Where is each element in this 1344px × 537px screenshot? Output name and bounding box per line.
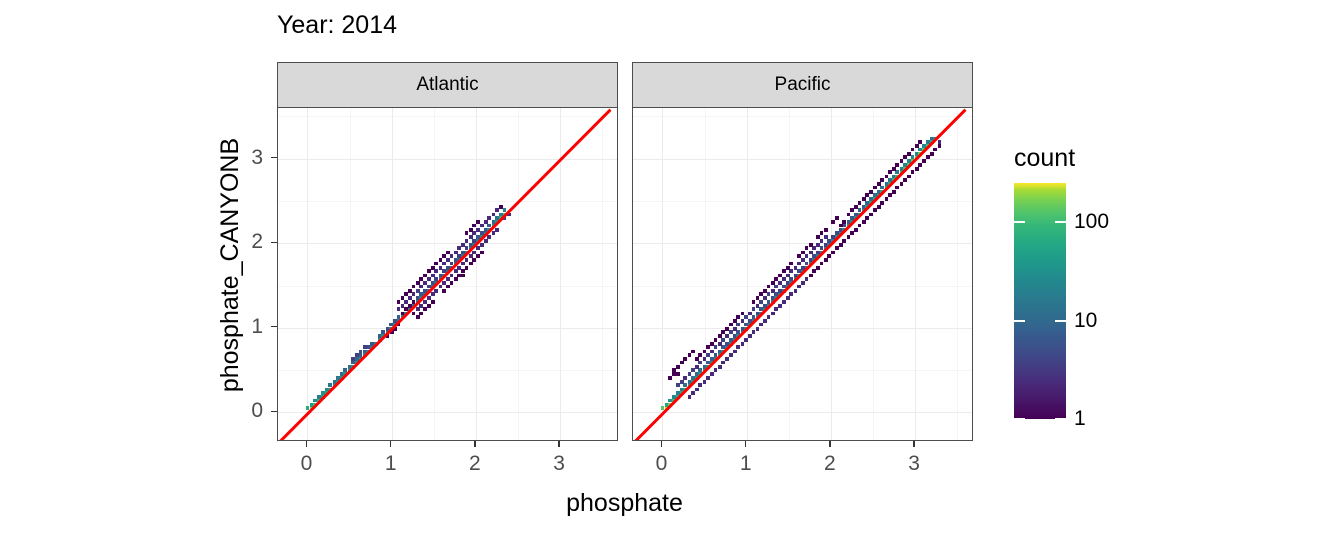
gridline-major-horizontal xyxy=(633,328,972,329)
heatmap-bin xyxy=(465,258,469,262)
heatmap-bin xyxy=(680,361,684,365)
heatmap-bin xyxy=(839,243,843,247)
heatmap-bin xyxy=(744,338,748,342)
heatmap-bin xyxy=(771,281,775,285)
heatmap-bin xyxy=(933,148,937,152)
heatmap-bin xyxy=(797,254,801,258)
heatmap-bin xyxy=(873,208,877,212)
heatmap-bin xyxy=(763,319,767,323)
heatmap-bin xyxy=(930,152,934,156)
y-tick-label: 0 xyxy=(223,399,263,423)
heatmap-bin xyxy=(487,235,491,239)
heatmap-bin xyxy=(858,224,862,228)
heatmap-bin xyxy=(691,368,695,372)
heatmap-bin xyxy=(816,235,820,239)
heatmap-bin xyxy=(786,266,790,270)
heatmap-bin xyxy=(472,231,476,235)
gridline-major-horizontal xyxy=(633,243,972,244)
heatmap-bin xyxy=(484,239,488,243)
heatmap-bin xyxy=(434,262,438,266)
heatmap-bin xyxy=(824,235,828,239)
gridline-minor-horizontal xyxy=(278,370,617,371)
heatmap-bin xyxy=(476,254,480,258)
heatmap-bin xyxy=(419,312,423,316)
heatmap-bin xyxy=(733,327,737,331)
x-tick-mark xyxy=(474,441,475,447)
heatmap-bin xyxy=(427,296,431,300)
heatmap-bin xyxy=(683,357,687,361)
heatmap-bin xyxy=(450,254,454,258)
heatmap-bin xyxy=(827,254,831,258)
heatmap-bin xyxy=(442,254,446,258)
heatmap-bin xyxy=(492,231,496,235)
facet-strip-pacific: Pacific xyxy=(632,62,973,108)
heatmap-bin xyxy=(431,266,435,270)
heatmap-bin xyxy=(703,357,707,361)
heatmap-bin xyxy=(900,182,904,186)
heatmap-bin xyxy=(858,201,862,205)
heatmap-bin xyxy=(786,296,790,300)
heatmap-bin xyxy=(907,152,911,156)
heatmap-bin xyxy=(480,243,484,247)
heatmap-bin xyxy=(789,292,793,296)
heatmap-bin xyxy=(756,327,760,331)
heatmap-bin xyxy=(423,307,427,311)
heatmap-bin xyxy=(782,269,786,273)
heatmap-bin xyxy=(461,274,465,278)
heatmap-bin xyxy=(733,350,737,354)
facet-strip-label: Atlantic xyxy=(416,74,478,96)
heatmap-bin xyxy=(465,231,469,235)
heatmap-bin xyxy=(918,140,922,144)
heatmap-bin xyxy=(469,262,473,266)
heatmap-bin xyxy=(850,208,854,212)
heatmap-bin xyxy=(472,224,476,228)
heatmap-bin xyxy=(710,372,714,376)
heatmap-bin xyxy=(476,220,480,224)
heatmap-bin xyxy=(439,258,443,262)
heatmap-bin xyxy=(869,190,873,194)
x-tick-mark xyxy=(829,441,830,447)
x-tick-label: 1 xyxy=(371,452,411,476)
x-tick-label: 0 xyxy=(286,452,326,476)
page-title: Year: 2014 xyxy=(277,11,397,40)
heatmap-bin xyxy=(725,357,729,361)
heatmap-bin xyxy=(767,315,771,319)
heatmap-bin xyxy=(476,246,480,250)
heatmap-bin xyxy=(495,208,499,212)
heatmap-bin xyxy=(427,304,431,308)
x-tick-mark xyxy=(390,441,391,447)
heatmap-bin xyxy=(869,213,873,217)
ggplot-figure: Year: 2014 phosphate_CANYONB phosphate A… xyxy=(0,0,1344,537)
heatmap-bin xyxy=(397,307,401,311)
heatmap-bin xyxy=(698,383,702,387)
y-tick-label: 1 xyxy=(223,315,263,339)
heatmap-bin xyxy=(408,289,412,293)
heatmap-bin xyxy=(469,235,473,239)
heatmap-bin xyxy=(938,140,942,144)
heatmap-bin xyxy=(759,300,763,304)
heatmap-bin xyxy=(736,315,740,319)
heatmap-bin xyxy=(752,300,756,304)
heatmap-bin xyxy=(816,266,820,270)
heatmap-bin xyxy=(741,312,745,316)
gridline-minor-horizontal xyxy=(633,370,972,371)
heatmap-bin xyxy=(721,338,725,342)
heatmap-bin xyxy=(416,307,420,311)
heatmap-bin xyxy=(431,274,435,278)
heatmap-bin xyxy=(763,296,767,300)
heatmap-bin xyxy=(885,197,889,201)
heatmap-bin xyxy=(472,258,476,262)
heatmap-bin xyxy=(446,277,450,281)
heatmap-bin xyxy=(495,228,499,232)
heatmap-bin xyxy=(706,353,710,357)
heatmap-bin xyxy=(824,228,828,232)
heatmap-bin xyxy=(725,327,729,331)
heatmap-bin xyxy=(416,315,420,319)
heatmap-bin xyxy=(865,193,869,197)
heatmap-bin xyxy=(412,312,416,316)
heatmap-bin xyxy=(911,170,915,174)
x-tick-mark xyxy=(306,441,307,447)
heatmap-bin xyxy=(805,246,809,250)
heatmap-bin xyxy=(809,243,813,247)
heatmap-bin xyxy=(774,277,778,281)
heatmap-bin xyxy=(805,254,809,258)
x-tick-mark xyxy=(913,441,914,447)
y-tick-label: 3 xyxy=(223,146,263,170)
heatmap-bin xyxy=(778,281,782,285)
heatmap-bin xyxy=(794,289,798,293)
x-tick-label: 3 xyxy=(894,452,934,476)
heatmap-bin xyxy=(401,296,405,300)
heatmap-bin xyxy=(877,182,881,186)
heatmap-bin xyxy=(450,274,454,278)
heatmap-bin xyxy=(454,251,458,255)
heatmap-bin xyxy=(733,319,737,323)
heatmap-bin xyxy=(714,368,718,372)
heatmap-bin xyxy=(729,330,733,334)
legend-tick-mark xyxy=(1014,221,1025,223)
heatmap-bin xyxy=(416,281,420,285)
heatmap-bin xyxy=(695,365,699,369)
legend-colorbar xyxy=(1014,183,1066,419)
legend-tick-mark xyxy=(1055,418,1066,420)
plot-panel-pacific xyxy=(632,107,973,441)
heatmap-bin xyxy=(454,277,458,281)
gridline-major-horizontal xyxy=(633,159,972,160)
x-tick-label: 3 xyxy=(539,452,579,476)
heatmap-bin xyxy=(721,361,725,365)
heatmap-bin xyxy=(763,289,767,293)
heatmap-bin xyxy=(446,285,450,289)
heatmap-bin xyxy=(748,312,752,316)
heatmap-bin xyxy=(404,300,408,304)
heatmap-bin xyxy=(759,292,763,296)
heatmap-bin xyxy=(718,365,722,369)
heatmap-bin xyxy=(676,365,680,369)
heatmap-bin xyxy=(778,304,782,308)
heatmap-bin xyxy=(419,304,423,308)
heatmap-bin xyxy=(839,224,843,228)
legend-tick-label: 100 xyxy=(1074,210,1109,234)
heatmap-bin xyxy=(419,285,423,289)
x-tick-mark xyxy=(558,441,559,447)
heatmap-bin xyxy=(789,269,793,273)
heatmap-bin xyxy=(729,323,733,327)
heatmap-bin xyxy=(820,231,824,235)
heatmap-bin xyxy=(892,190,896,194)
legend-tick-mark xyxy=(1014,320,1025,322)
heatmap-bin xyxy=(480,224,484,228)
heatmap-bin xyxy=(688,395,692,399)
gridline-major-horizontal xyxy=(278,328,617,329)
heatmap-bin xyxy=(767,285,771,289)
x-tick-mark xyxy=(745,441,746,447)
heatmap-bin xyxy=(676,383,680,387)
gridline-major-horizontal xyxy=(278,412,617,413)
heatmap-bin xyxy=(895,186,899,190)
heatmap-bin xyxy=(801,281,805,285)
heatmap-bin xyxy=(355,353,359,357)
heatmap-bin xyxy=(888,193,892,197)
legend-title: count xyxy=(1014,144,1075,173)
heatmap-bin xyxy=(676,372,680,376)
heatmap-bin xyxy=(744,315,748,319)
heatmap-bin xyxy=(412,285,416,289)
y-tick-mark xyxy=(271,411,277,412)
heatmap-bin xyxy=(752,307,756,311)
heatmap-bin xyxy=(412,292,416,296)
heatmap-bin xyxy=(431,292,435,296)
gridline-minor-horizontal xyxy=(278,116,617,117)
heatmap-bin xyxy=(741,319,745,323)
heatmap-bin xyxy=(721,330,725,334)
y-tick-mark xyxy=(271,326,277,327)
gridline-major-horizontal xyxy=(278,159,617,160)
heatmap-bin xyxy=(854,205,858,209)
heatmap-bin xyxy=(469,228,473,232)
heatmap-bin xyxy=(710,342,714,346)
heatmap-bin xyxy=(797,285,801,289)
heatmap-bin xyxy=(688,353,692,357)
heatmap-bin xyxy=(782,277,786,281)
heatmap-bin xyxy=(771,289,775,293)
heatmap-bin xyxy=(794,266,798,270)
heatmap-bin xyxy=(759,323,763,327)
heatmap-bin xyxy=(691,350,695,354)
heatmap-bin xyxy=(736,323,740,327)
heatmap-bin xyxy=(756,304,760,308)
heatmap-bin xyxy=(835,216,839,220)
heatmap-bin xyxy=(446,251,450,255)
heatmap-bin xyxy=(461,262,465,266)
heatmap-bin xyxy=(835,246,839,250)
heatmap-bin xyxy=(729,353,733,357)
x-tick-label: 2 xyxy=(810,452,850,476)
heatmap-bin xyxy=(767,292,771,296)
heatmap-bin xyxy=(499,205,503,209)
heatmap-bin xyxy=(877,205,881,209)
heatmap-bin xyxy=(465,239,469,243)
legend-tick-mark xyxy=(1055,221,1066,223)
heatmap-bin xyxy=(820,262,824,266)
heatmap-bin xyxy=(903,178,907,182)
heatmap-bin xyxy=(748,334,752,338)
legend-tick-label: 10 xyxy=(1074,309,1097,333)
heatmap-bin xyxy=(492,213,496,217)
gridline-minor-horizontal xyxy=(633,201,972,202)
heatmap-bin xyxy=(423,300,427,304)
heatmap-bin xyxy=(397,300,401,304)
heatmap-bin xyxy=(484,220,488,224)
heatmap-bin xyxy=(812,269,816,273)
heatmap-bin xyxy=(439,285,443,289)
y-tick-label: 2 xyxy=(223,230,263,254)
heatmap-bin xyxy=(423,281,427,285)
gridline-minor-horizontal xyxy=(278,201,617,202)
heatmap-bin xyxy=(801,258,805,262)
heatmap-bin xyxy=(476,228,480,232)
heatmap-bin xyxy=(434,289,438,293)
heatmap-bin xyxy=(457,266,461,270)
x-tick-label: 2 xyxy=(455,452,495,476)
heatmap-bin xyxy=(668,376,672,380)
heatmap-bin xyxy=(782,300,786,304)
heatmap-bin xyxy=(351,357,355,361)
x-tick-mark xyxy=(661,441,662,447)
heatmap-bin xyxy=(918,163,922,167)
heatmap-bin xyxy=(915,144,919,148)
heatmap-bin xyxy=(469,254,473,258)
heatmap-bin xyxy=(824,258,828,262)
heatmap-bin xyxy=(706,345,710,349)
heatmap-bin xyxy=(680,380,684,384)
gridline-major-horizontal xyxy=(278,243,617,244)
heatmap-bin xyxy=(842,239,846,243)
heatmap-bin xyxy=(771,312,775,316)
heatmap-bin xyxy=(423,274,427,278)
heatmap-bin xyxy=(862,197,866,201)
heatmap-bin xyxy=(831,251,835,255)
heatmap-bin xyxy=(487,216,491,220)
heatmap-bin xyxy=(465,266,469,270)
heatmap-bin xyxy=(457,246,461,250)
heatmap-bin xyxy=(892,167,896,171)
heatmap-bin xyxy=(703,350,707,354)
heatmap-bin xyxy=(457,274,461,278)
heatmap-bin xyxy=(854,228,858,232)
legend-tick-mark xyxy=(1014,418,1025,420)
facet-strip-atlantic: Atlantic xyxy=(277,62,618,108)
heatmap-bin xyxy=(865,216,869,220)
heatmap-bin xyxy=(695,357,699,361)
heatmap-bin xyxy=(786,274,790,278)
gridline-major-horizontal xyxy=(633,412,972,413)
y-tick-mark xyxy=(271,242,277,243)
heatmap-bin xyxy=(691,391,695,395)
heatmap-bin xyxy=(416,289,420,293)
heatmap-bin xyxy=(847,235,851,239)
heatmap-bin xyxy=(439,266,443,270)
heatmap-bin xyxy=(741,342,745,346)
heatmap-bin xyxy=(915,167,919,171)
heatmap-bin xyxy=(427,277,431,281)
heatmap-bin xyxy=(938,144,942,148)
heatmap-bin xyxy=(419,277,423,281)
heatmap-bin xyxy=(756,296,760,300)
heatmap-bin xyxy=(752,330,756,334)
x-axis-title: phosphate xyxy=(277,489,972,518)
heatmap-bin xyxy=(442,281,446,285)
heatmap-bin xyxy=(706,376,710,380)
heatmap-bin xyxy=(809,251,813,255)
heatmap-bin xyxy=(847,213,851,217)
heatmap-bin xyxy=(688,372,692,376)
heatmap-bin xyxy=(789,262,793,266)
heatmap-bin xyxy=(774,285,778,289)
heatmap-bin xyxy=(926,155,930,159)
heatmap-bin xyxy=(695,388,699,392)
heatmap-bin xyxy=(809,274,813,278)
heatmap-bin xyxy=(812,246,816,250)
heatmap-bin xyxy=(431,300,435,304)
heatmap-bin xyxy=(718,334,722,338)
heatmap-bin xyxy=(698,361,702,365)
heatmap-bin xyxy=(911,148,915,152)
heatmap-bin xyxy=(862,220,866,224)
legend-tick-label: 1 xyxy=(1074,407,1086,431)
heatmap-bin xyxy=(450,281,454,285)
heatmap-bin xyxy=(888,170,892,174)
heatmap-bin xyxy=(461,269,465,273)
heatmap-bin xyxy=(442,289,446,293)
heatmap-bin xyxy=(797,262,801,266)
heatmap-bin xyxy=(816,243,820,247)
heatmap-bin xyxy=(714,345,718,349)
heatmap-bin xyxy=(805,277,809,281)
heatmap-bin xyxy=(480,251,484,255)
x-tick-label: 0 xyxy=(641,452,681,476)
heatmap-bin xyxy=(831,220,835,224)
heatmap-bin xyxy=(907,175,911,179)
heatmap-bin xyxy=(672,368,676,372)
heatmap-bin xyxy=(880,201,884,205)
legend-tick-mark xyxy=(1055,320,1066,322)
heatmap-bin xyxy=(404,292,408,296)
heatmap-bin xyxy=(427,269,431,273)
heatmap-bin xyxy=(903,155,907,159)
gridline-minor-horizontal xyxy=(633,286,972,287)
heatmap-bin xyxy=(683,376,687,380)
heatmap-bin xyxy=(725,334,729,338)
heatmap-bin xyxy=(922,159,926,163)
x-tick-label: 1 xyxy=(726,452,766,476)
heatmap-bin xyxy=(359,350,363,354)
heatmap-bin xyxy=(895,163,899,167)
gridline-minor-horizontal xyxy=(633,116,972,117)
plot-panel-atlantic xyxy=(277,107,618,441)
heatmap-bin xyxy=(434,269,438,273)
heatmap-bin xyxy=(820,239,824,243)
heatmap-bin xyxy=(714,338,718,342)
heatmap-bin xyxy=(842,220,846,224)
heatmap-bin xyxy=(873,186,877,190)
heatmap-bin xyxy=(880,178,884,182)
facet-strip-label: Pacific xyxy=(775,74,831,96)
